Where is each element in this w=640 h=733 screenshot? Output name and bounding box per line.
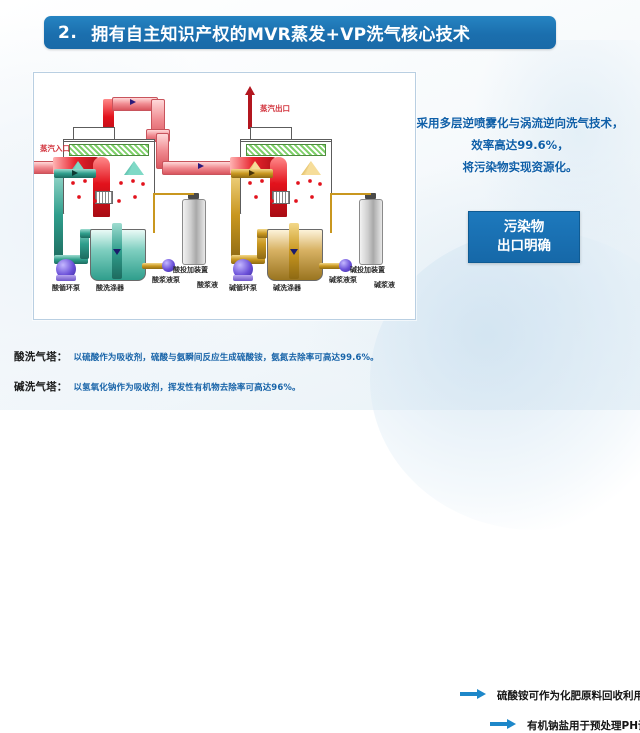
slide-title-bar: 2. 拥有自主知识产权的MVR蒸发+VP洗气核心技术 — [44, 16, 556, 49]
right-description: 采用多层逆喷雾化与涡流逆向洗气技术， 效率高达99.6%， 将污染物实现资源化。 — [404, 112, 636, 178]
title-number: 2. — [58, 23, 77, 43]
label-acid-circulation-pump: 酸循环泵 — [52, 283, 80, 293]
steam-outlet-arrow — [245, 86, 255, 95]
note-acid-body: 以硫酸作为吸收剂，硫酸与氨瞬间反应生成硫酸铵，氨氮去除率可高达99.6%。 — [74, 351, 379, 363]
bottom-notes: 酸洗气塔： 以硫酸作为吸收剂，硫酸与氨瞬间反应生成硫酸铵，氨氮去除率可高达99.… — [0, 340, 640, 410]
note-alkali-arrow-icon — [490, 722, 508, 726]
label-steam-outlet: 蒸汽出口 — [260, 103, 290, 114]
note-alkali-body: 以氢氧化钠作为吸收剂，挥发性有机物去除率可高达96%。 — [74, 381, 301, 393]
note-row-alkali: 碱洗气塔： 以氢氧化钠作为吸收剂，挥发性有机物去除率可高达96%。 — [14, 379, 301, 394]
slide-background: 2. 拥有自主知识产权的MVR蒸发+VP洗气核心技术 蒸汽出口 — [0, 0, 640, 410]
acid-slurry-line — [142, 263, 164, 269]
acid-tank-flow-arrow — [113, 249, 121, 255]
alkali-dosing-device[interactable] — [359, 199, 383, 265]
note-acid-arrow-icon — [460, 692, 478, 696]
acid-dosing-device[interactable] — [182, 199, 206, 265]
acid-dosing-feed-drop — [153, 193, 155, 233]
alkali-demister-mesh — [246, 144, 326, 156]
label-alkali-slurry: 碱浆液 — [374, 280, 395, 290]
alkali-dosing-feed-drop — [330, 193, 332, 233]
right-description-line-2: 效率高达99.6%， — [404, 134, 636, 156]
acid-demister-mesh — [69, 144, 149, 156]
acid-circulation-pump-base — [56, 275, 76, 281]
alkali-dosing-feed-top — [331, 193, 371, 195]
page-title: 拥有自主知识产权的MVR蒸发+VP洗气核心技术 — [91, 20, 470, 45]
alkali-recirc-riser — [231, 169, 240, 261]
label-alkali-scrubber: 碱洗涤器 — [273, 283, 301, 293]
right-description-line-1: 采用多层逆喷雾化与涡流逆向洗气技术， — [404, 112, 636, 134]
duct-flow-arrow-2 — [198, 163, 204, 169]
label-acid-dosing-device: 酸投加装置 — [173, 265, 208, 275]
duct-flow-arrow-1 — [130, 99, 136, 105]
alkali-tank-flow-arrow — [290, 249, 298, 255]
note-acid-head: 酸洗气塔： — [14, 349, 68, 364]
alkali-recirc-arrow — [249, 170, 255, 176]
steam-outlet-stem — [248, 95, 252, 129]
acid-recirc-arrow — [72, 170, 78, 176]
note-alkali-head: 碱洗气塔： — [14, 379, 68, 394]
label-alkali-slurry-pump: 碱浆液泵 — [329, 275, 357, 285]
alkali-circulation-pump-base — [233, 275, 253, 281]
label-alkali-dosing-device: 碱投加装置 — [350, 265, 385, 275]
pollutant-outlet-callout: 污染物 出口明确 — [468, 211, 580, 263]
label-acid-scrubber: 酸洗涤器 — [96, 283, 124, 293]
process-flow-diagram: 蒸汽出口 蒸汽入口 — [33, 72, 416, 320]
label-acid-slurry-pump: 酸浆液泵 — [152, 275, 180, 285]
right-description-line-3: 将污染物实现资源化。 — [404, 156, 636, 178]
note-row-acid: 酸洗气塔： 以硫酸作为吸收剂，硫酸与氨瞬间反应生成硫酸铵，氨氮去除率可高达99.… — [14, 349, 379, 364]
acid-recirc-riser — [54, 169, 63, 261]
alkali-slurry-line — [319, 263, 341, 269]
label-acid-slurry: 酸浆液 — [197, 280, 218, 290]
callout-line-2: 出口明确 — [497, 237, 551, 256]
callout-line-1: 污染物 — [504, 218, 545, 237]
acid-mist-pattern — [65, 177, 151, 207]
alkali-mist-pattern — [242, 177, 328, 207]
acid-dosing-feed-top — [154, 193, 194, 195]
note-alkali-result: 有机钠盐用于预处理PH调节 — [527, 718, 640, 733]
label-alkali-circulation-pump: 碱循环泵 — [229, 283, 257, 293]
note-acid-result: 硫酸铵可作为化肥原料回收利用 — [497, 688, 640, 703]
label-steam-inlet: 蒸汽入口 — [40, 143, 70, 154]
